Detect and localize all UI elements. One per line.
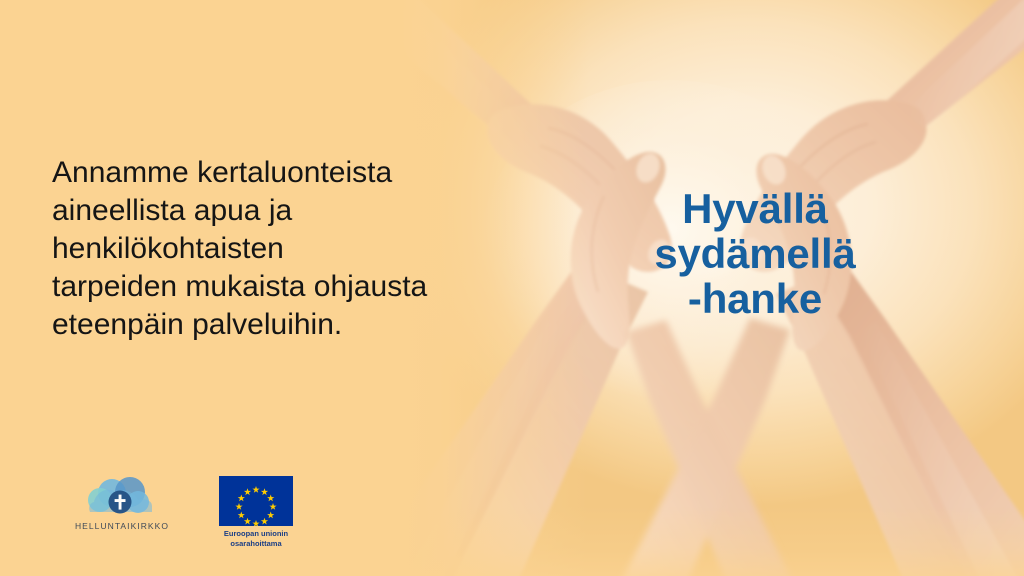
eu-funding-caption-line-1: Euroopan unionin <box>210 529 302 539</box>
helluntaikirkko-logo-label: HELLUNTAIKIRKKO <box>60 521 184 531</box>
body-line-5: eteenpäin palveluihin. <box>52 306 504 344</box>
helluntaikirkko-logo: HELLUNTAIKIRKKO <box>60 476 184 531</box>
helluntaikirkko-logo-icon <box>60 476 184 518</box>
slide-canvas: Hyvällä sydämellä -hanke Annamme kertalu… <box>0 0 1024 576</box>
body-paragraph: Annamme kertaluonteista aineellista apua… <box>52 154 504 344</box>
project-title-line-2: sydämellä <box>600 231 910 276</box>
body-line-2: aineellista apua ja <box>52 192 504 230</box>
photo-bottom-fade <box>398 506 1024 576</box>
eu-flag-icon <box>219 476 293 526</box>
eu-funding-logo: Euroopan unionin osarahoittama <box>210 476 302 548</box>
project-title-line-1: Hyvällä <box>600 186 910 231</box>
body-line-1: Annamme kertaluonteista <box>52 154 504 192</box>
project-title: Hyvällä sydämellä -hanke <box>600 186 910 321</box>
body-line-4: tarpeiden mukaista ohjausta <box>52 268 504 306</box>
eu-funding-caption-line-2: osarahoittama <box>210 539 302 549</box>
project-title-line-3: -hanke <box>600 276 910 321</box>
body-line-3: henkilökohtaisten <box>52 230 504 268</box>
